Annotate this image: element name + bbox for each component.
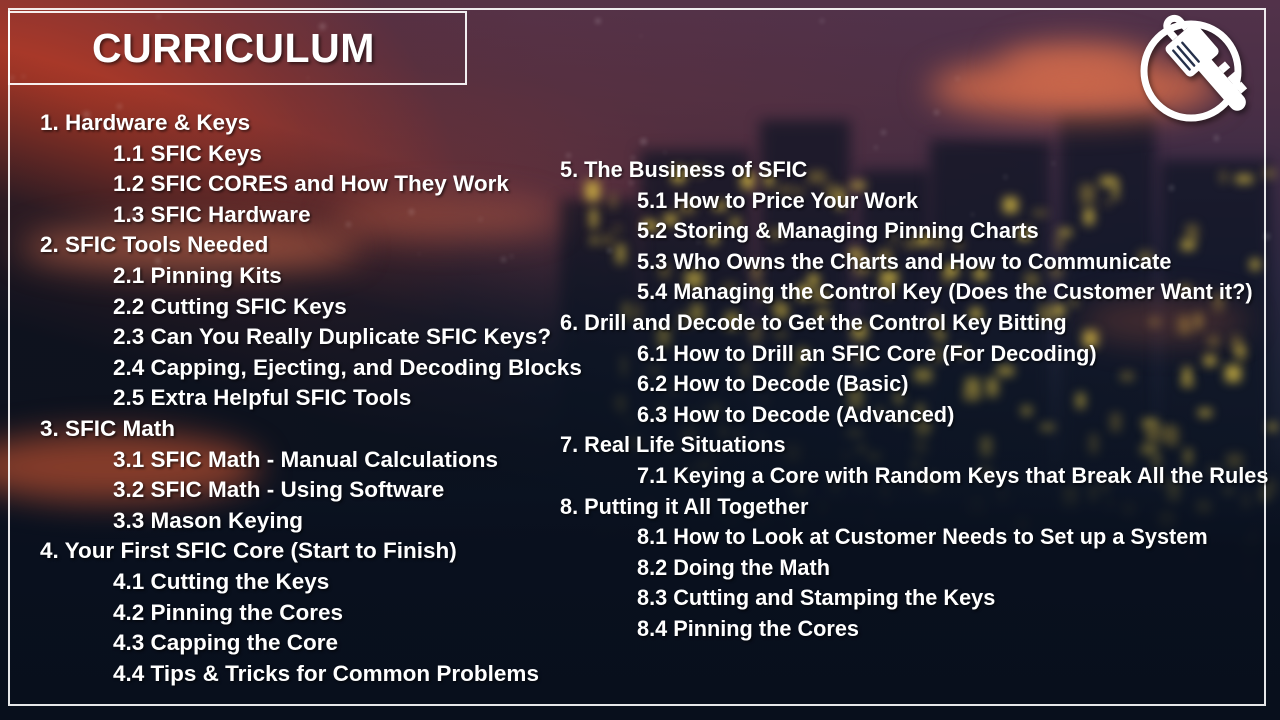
curriculum-item: 5.4 Managing the Control Key (Does the C… (637, 277, 1268, 308)
presentation-slide: CURRICULUM (0, 0, 1280, 720)
curriculum-item: 5.3 Who Owns the Charts and How to Commu… (637, 247, 1268, 278)
curriculum-item: 6. Drill and Decode to Get the Control K… (560, 308, 1266, 339)
curriculum-item: 7. Real Life Situations (560, 430, 1266, 461)
curriculum-column-left: 1. Hardware & Keys1.1 SFIC Keys1.2 SFIC … (40, 108, 582, 689)
curriculum-item: 6.3 How to Decode (Advanced) (637, 400, 1268, 431)
curriculum-item: 4.3 Capping the Core (113, 628, 582, 659)
curriculum-item: 8.3 Cutting and Stamping the Keys (637, 583, 1268, 614)
curriculum-item: 7.1 Keying a Core with Random Keys that … (637, 461, 1268, 492)
curriculum-item: 8.1 How to Look at Customer Needs to Set… (637, 522, 1268, 553)
curriculum-item: 1.2 SFIC CORES and How They Work (113, 169, 582, 200)
curriculum-item: 5.1 How to Price Your Work (637, 186, 1268, 217)
key-in-circle-logo (1134, 12, 1248, 126)
curriculum-item: 5. The Business of SFIC (560, 155, 1266, 186)
curriculum-item: 2.4 Capping, Ejecting, and Decoding Bloc… (113, 353, 582, 384)
curriculum-item: 2.3 Can You Really Duplicate SFIC Keys? (113, 322, 582, 353)
curriculum-item: 3.1 SFIC Math - Manual Calculations (113, 445, 582, 476)
star-dot (640, 138, 647, 145)
title-box: CURRICULUM (8, 11, 467, 85)
curriculum-item: 8.4 Pinning the Cores (637, 614, 1268, 645)
cloud-shape (1000, 44, 1150, 88)
curriculum-item: 3.3 Mason Keying (113, 506, 582, 537)
curriculum-item: 1.3 SFIC Hardware (113, 200, 582, 231)
curriculum-item: 4. Your First SFIC Core (Start to Finish… (40, 536, 582, 567)
curriculum-column-right: 5. The Business of SFIC5.1 How to Price … (560, 155, 1280, 645)
curriculum-item: 4.4 Tips & Tricks for Common Problems (113, 659, 582, 690)
curriculum-item: 1.1 SFIC Keys (113, 139, 582, 170)
curriculum-item: 6.2 How to Decode (Basic) (637, 369, 1268, 400)
curriculum-item: 5.2 Storing & Managing Pinning Charts (637, 216, 1268, 247)
curriculum-item: 4.2 Pinning the Cores (113, 598, 582, 629)
curriculum-item: 2.5 Extra Helpful SFIC Tools (113, 383, 582, 414)
curriculum-item: 1. Hardware & Keys (40, 108, 582, 139)
curriculum-item: 2.2 Cutting SFIC Keys (113, 292, 582, 323)
curriculum-item: 4.1 Cutting the Keys (113, 567, 582, 598)
curriculum-item: 3. SFIC Math (40, 414, 582, 445)
star-dot (874, 146, 877, 149)
curriculum-item: 2. SFIC Tools Needed (40, 230, 582, 261)
star-dot (640, 35, 642, 37)
curriculum-item: 8.2 Doing the Math (637, 553, 1268, 584)
star-dot (595, 18, 601, 24)
curriculum-item: 2.1 Pinning Kits (113, 261, 582, 292)
curriculum-item: 8. Putting it All Together (560, 492, 1266, 523)
star-dot (664, 151, 666, 153)
curriculum-item: 6.1 How to Drill an SFIC Core (For Decod… (637, 339, 1268, 370)
page-title: CURRICULUM (92, 25, 375, 72)
curriculum-item: 3.2 SFIC Math - Using Software (113, 475, 582, 506)
